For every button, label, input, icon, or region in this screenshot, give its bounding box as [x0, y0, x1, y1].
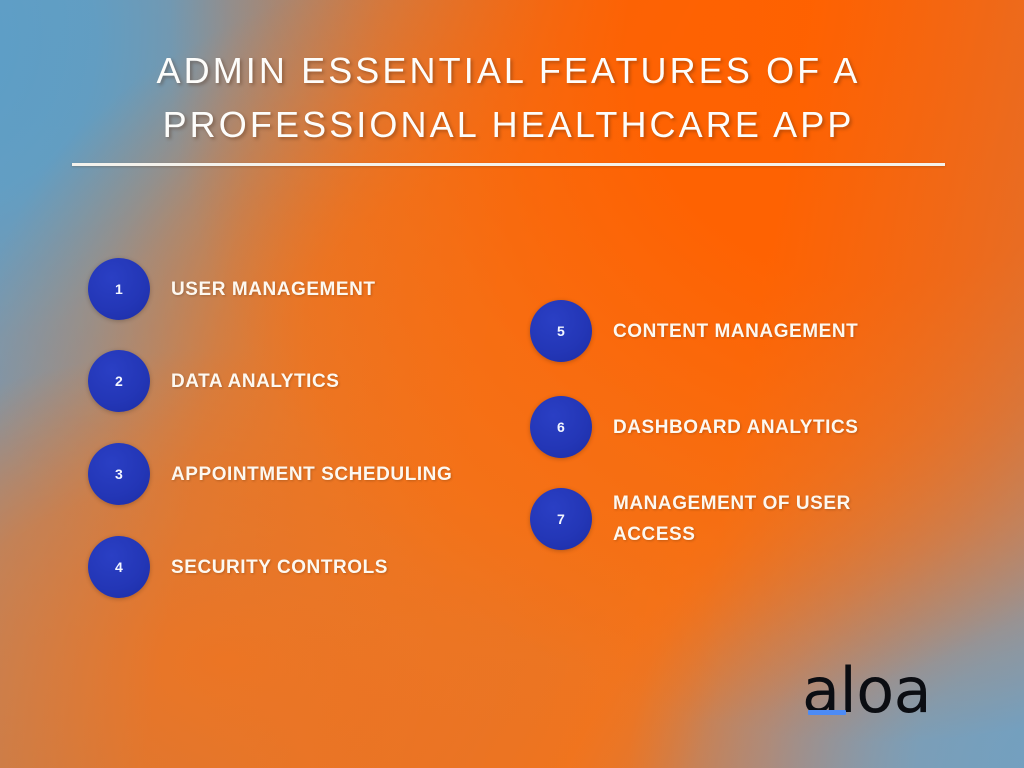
feature-label: MANAGEMENT OF USER ACCESS [613, 488, 851, 550]
feature-item-data-analytics: 2 DATA ANALYTICS [88, 350, 340, 412]
page-title-line-1: ADMIN ESSENTIAL FEATURES OF A [72, 44, 945, 98]
feature-number-badge: 4 [88, 536, 150, 598]
feature-item-user-management: 1 USER MANAGEMENT [88, 258, 376, 320]
feature-label: SECURITY CONTROLS [171, 552, 388, 583]
feature-number-badge: 1 [88, 258, 150, 320]
aloa-logo: aloa [802, 660, 942, 732]
feature-label: USER MANAGEMENT [171, 274, 376, 305]
feature-number: 1 [115, 282, 123, 296]
feature-number-badge: 3 [88, 443, 150, 505]
logo-underline-accent [808, 710, 846, 715]
feature-number: 5 [557, 324, 565, 338]
feature-item-security-controls: 4 SECURITY CONTROLS [88, 536, 388, 598]
title-divider [72, 163, 945, 166]
feature-number-badge: 6 [530, 396, 592, 458]
page-title: ADMIN ESSENTIAL FEATURES OF A PROFESSION… [72, 44, 945, 152]
feature-number: 7 [557, 512, 565, 526]
feature-number-badge: 5 [530, 300, 592, 362]
page-title-line-2: PROFESSIONAL HEALTHCARE APP [72, 98, 945, 152]
infographic-slide: ADMIN ESSENTIAL FEATURES OF A PROFESSION… [0, 0, 1024, 768]
feature-number: 3 [115, 467, 123, 481]
feature-label: DATA ANALYTICS [171, 366, 340, 397]
feature-number-badge: 7 [530, 488, 592, 550]
feature-item-management-of-user-access: 7 MANAGEMENT OF USER ACCESS [530, 488, 851, 550]
feature-item-dashboard-analytics: 6 DASHBOARD ANALYTICS [530, 396, 859, 458]
feature-number: 2 [115, 374, 123, 388]
feature-label: CONTENT MANAGEMENT [613, 316, 858, 347]
feature-number-badge: 2 [88, 350, 150, 412]
feature-number: 4 [115, 560, 123, 574]
feature-number: 6 [557, 420, 565, 434]
feature-label: DASHBOARD ANALYTICS [613, 412, 859, 443]
feature-label: APPOINTMENT SCHEDULING [171, 459, 452, 490]
feature-item-content-management: 5 CONTENT MANAGEMENT [530, 300, 858, 362]
feature-item-appointment-scheduling: 3 APPOINTMENT SCHEDULING [88, 443, 452, 505]
